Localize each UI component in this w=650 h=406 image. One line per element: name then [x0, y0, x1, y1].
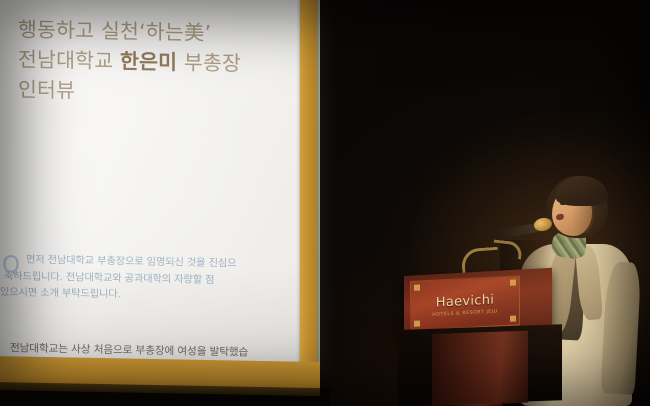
- podium-plaque: Haevichi HOTELS & RESORT JEJU: [410, 275, 520, 331]
- presentation-photo: 행동하고 실천‘하는美’ 전남대학교 한은미 부총장 인터뷰 Q 먼저 전남대학…: [0, 0, 650, 406]
- plaque-corner-bracket-tr: [510, 279, 516, 285]
- podium-front-panel: [432, 331, 528, 406]
- plaque-corner-bracket-br: [510, 315, 516, 321]
- plaque-corner-bracket-tl: [414, 284, 420, 290]
- plaque-corner-bracket-bl: [414, 320, 420, 326]
- speaker-hair-front: [556, 176, 608, 206]
